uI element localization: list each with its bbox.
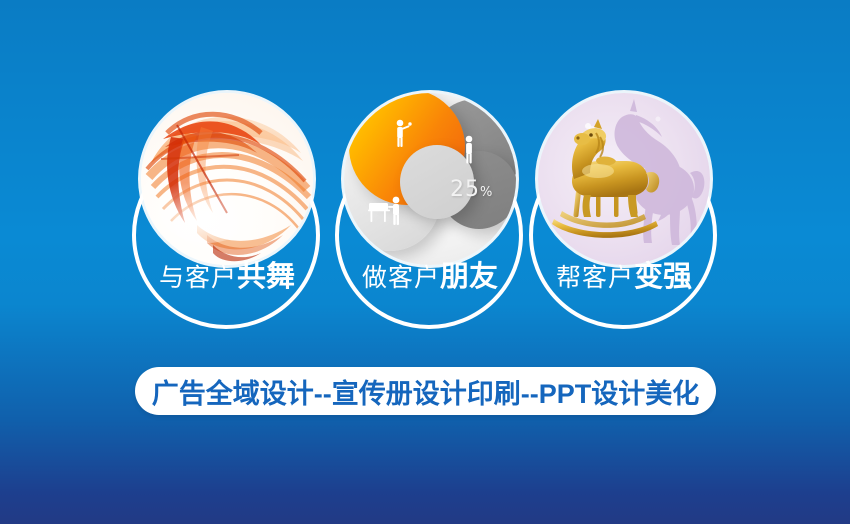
stat-value: 25: [450, 177, 480, 202]
card-caption: 与客户共舞: [127, 263, 327, 292]
golden-rocking-horse-icon: [538, 93, 710, 265]
person-at-desk-icon: [368, 195, 414, 229]
card-caption-light: 与客户: [159, 264, 237, 292]
card-image-rocking-horse: [538, 93, 710, 265]
card-caption-light: 帮客户: [556, 264, 634, 292]
card-image-red-smoke-swirl: [141, 93, 313, 265]
card-caption-bold: 朋友: [440, 261, 498, 293]
red-smoke-swirl-icon: [141, 93, 313, 265]
card-dance-with-client[interactable]: 与客户共舞: [127, 93, 327, 333]
stat-unit: %: [480, 185, 493, 200]
card-caption: 帮客户变强: [524, 263, 724, 292]
card-make-client-stronger[interactable]: 帮客户变强: [524, 93, 724, 333]
person-presenting-icon: [392, 119, 414, 149]
person-standing-icon: [460, 135, 478, 165]
service-banner-pill[interactable]: 广告全域设计--宣传册设计印刷--PPT设计美化: [135, 367, 716, 415]
card-caption-light: 做客户: [362, 264, 440, 292]
card-friend-of-client[interactable]: 25% 做客户朋友: [330, 93, 530, 333]
poster-canvas: 与客户共舞: [0, 0, 850, 524]
card-caption: 做客户朋友: [330, 263, 530, 292]
card-caption-bold: 变强: [634, 261, 692, 293]
card-caption-bold: 共舞: [237, 261, 295, 293]
service-banner-text: 广告全域设计--宣传册设计印刷--PPT设计美化: [152, 372, 699, 411]
stat-25-percent: 25%: [450, 177, 493, 202]
card-image-infographic-blobs: 25%: [344, 93, 516, 265]
